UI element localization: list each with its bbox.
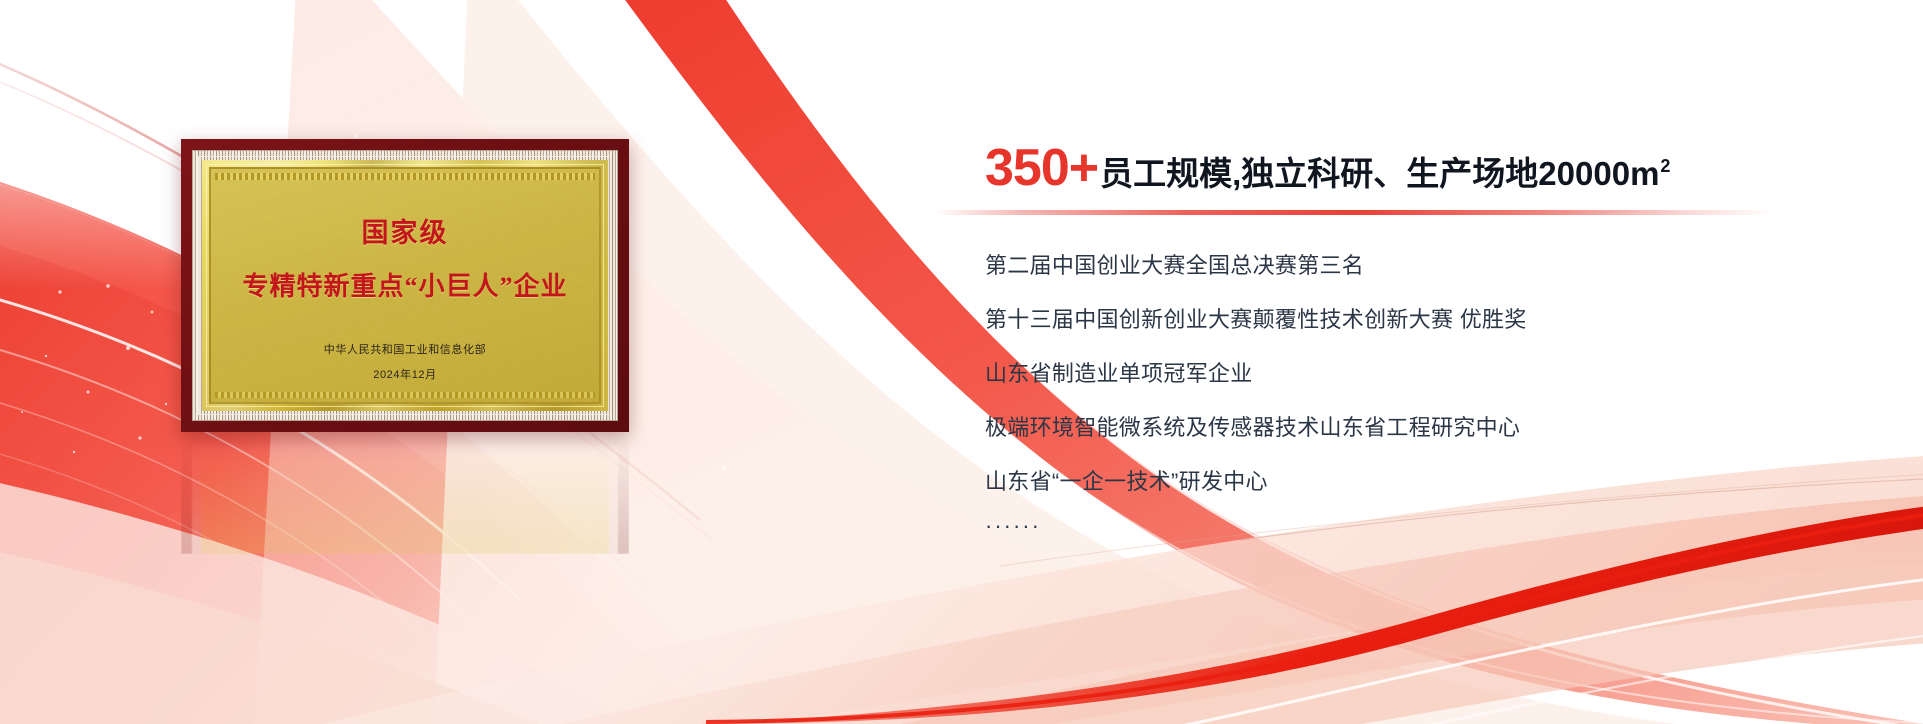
award-plaque: 国家级 专精特新重点“小巨人”企业 中华人民共和国工业和信息化部 2024年12… [181,139,629,432]
plaque-title-sub: 专精特新重点“小巨人”企业 [242,266,567,303]
headline-metric-text: 员工规模,独立科研、生产场地20000m [1100,157,1659,190]
content-column: 350+ 员工规模,独立科研、生产场地20000m 2 第二届中国创业大赛全国总… [985,142,1865,555]
headline-superscript: 2 [1660,157,1670,175]
headline-divider-rule [935,210,1775,215]
list-item: 山东省制造业单项冠军企业 [985,363,1865,385]
plaque-plate-inner: 国家级 专精特新重点“小巨人”企业 中华人民共和国工业和信息化部 2024年12… [209,167,601,404]
plaque-issuer: 中华人民共和国工业和信息化部 [324,341,486,357]
list-item: 极端环境智能微系统及传感器技术山东省工程研究中心 [985,417,1865,439]
plaque-gold-plate: 国家级 专精特新重点“小巨人”企业 中华人民共和国工业和信息化部 2024年12… [202,160,608,411]
headline: 350+ 员工规模,独立科研、生产场地20000m 2 [985,142,1865,194]
plaque-frame: 国家级 专精特新重点“小巨人”企业 中华人民共和国工业和信息化部 2024年12… [181,139,629,432]
list-item: 第二届中国创业大赛全国总决赛第三名 [985,255,1865,277]
list-item: 山东省“一企一技术”研发中心 [985,471,1865,493]
list-item: 第十三届中国创新创业大赛颠覆性技术创新大赛 优胜奖 [985,309,1865,331]
banner-stage: 国家级 专精特新重点“小巨人”企业 中华人民共和国工业和信息化部 2024年12… [0,0,1923,724]
lower-left-wash-group [0,470,640,724]
plaque-ornament-border: 国家级 专精特新重点“小巨人”企业 中华人民共和国工业和信息化部 2024年12… [192,150,618,421]
plaque-title-main: 国家级 [362,211,449,250]
headline-metric-number: 350+ [985,142,1098,194]
honor-list: 第二届中国创业大赛全国总决赛第三名 第十三届中国创新创业大赛颠覆性技术创新大赛 … [985,255,1865,539]
honor-list-ellipsis: ······ [985,513,1865,539]
plaque-reflection [181,434,629,554]
plaque-date: 2024年12月 [373,366,437,382]
